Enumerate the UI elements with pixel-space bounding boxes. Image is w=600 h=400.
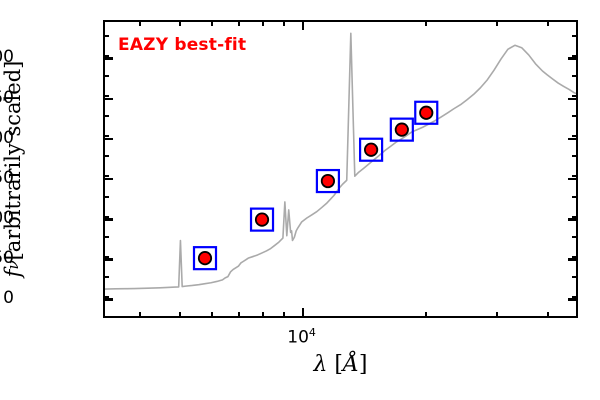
y-tick-major	[104, 57, 113, 60]
y-tick-major-right	[568, 138, 577, 141]
x-axis-title: λ [Å]	[103, 352, 578, 377]
y-tick-minor-right	[572, 35, 577, 37]
x-tick-minor	[139, 312, 141, 317]
x-tick-minor-top	[139, 21, 141, 26]
x-tick-major-top	[302, 21, 305, 30]
x-tick-minor-top	[238, 21, 240, 26]
y-tick-major	[104, 98, 113, 101]
x-axis-title-unit: [Å]	[327, 352, 367, 377]
x-tick-minor	[238, 312, 240, 317]
y-tick-minor-right	[572, 75, 577, 77]
y-tick-major	[104, 258, 113, 261]
photometry-point	[420, 107, 432, 119]
y-tick-minor-right	[572, 135, 577, 137]
y-tick-minor-right	[572, 256, 577, 258]
photometry-point	[365, 144, 377, 156]
y-tick-major-right	[568, 178, 577, 181]
y-tick-minor	[104, 196, 109, 198]
y-tick-label: 150	[0, 168, 14, 188]
x-tick-major	[302, 308, 305, 317]
y-tick-minor	[104, 155, 109, 157]
x-tick-minor	[211, 312, 213, 317]
x-axis-title-symbol: λ	[313, 352, 327, 377]
y-tick-major	[104, 218, 113, 221]
x-tick-minor-top	[547, 21, 549, 26]
plot-area: EAZY best-fit	[103, 20, 578, 318]
y-tick-major-right	[568, 218, 577, 221]
x-tick-minor-top	[425, 21, 427, 26]
y-tick-major	[104, 138, 113, 141]
y-tick-major	[104, 298, 113, 301]
y-tick-minor-right	[572, 296, 577, 298]
y-tick-major-right	[568, 258, 577, 261]
y-tick-label: 0	[3, 288, 14, 308]
y-tick-minor	[104, 135, 109, 137]
y-tick-label: 100	[0, 208, 14, 228]
y-tick-minor-right	[572, 155, 577, 157]
photometry-point	[396, 123, 408, 135]
y-tick-minor-right	[572, 196, 577, 198]
y-tick-minor-right	[572, 236, 577, 238]
x-tick-minor-top	[211, 21, 213, 26]
y-tick-minor-right	[572, 216, 577, 218]
y-tick-minor	[104, 175, 109, 177]
y-tick-minor	[104, 35, 109, 37]
y-tick-minor	[104, 296, 109, 298]
x-tick-label: 104	[287, 326, 316, 348]
y-tick-label: 200	[0, 128, 14, 148]
y-tick-minor	[104, 75, 109, 77]
x-tick-minor	[425, 312, 427, 317]
x-tick-minor	[283, 312, 285, 317]
plot-clip-region	[105, 22, 576, 316]
y-tick-minor	[104, 236, 109, 238]
y-tick-minor-right	[572, 276, 577, 278]
photometry-markers	[194, 102, 437, 269]
y-tick-minor	[104, 256, 109, 258]
photometry-point	[256, 213, 268, 225]
y-tick-label: 300	[0, 47, 14, 67]
y-axis-title-symbol: f	[1, 270, 25, 278]
x-tick-minor	[179, 312, 181, 317]
x-tick-minor	[496, 312, 498, 317]
x-tick-minor-top	[283, 21, 285, 26]
y-tick-minor-right	[572, 55, 577, 57]
y-tick-minor-right	[572, 115, 577, 117]
x-tick-minor	[262, 312, 264, 317]
y-tick-minor	[104, 95, 109, 97]
photometry-point	[199, 252, 211, 264]
y-tick-major-right	[568, 298, 577, 301]
spectrum-svg	[105, 22, 576, 316]
y-tick-minor-right	[572, 175, 577, 177]
photometry-point	[322, 175, 334, 187]
y-tick-minor	[104, 216, 109, 218]
x-tick-minor-top	[262, 21, 264, 26]
y-tick-major-right	[568, 57, 577, 60]
y-tick-minor	[104, 115, 109, 117]
x-tick-minor-top	[496, 21, 498, 26]
y-tick-minor-right	[572, 316, 577, 318]
sed-template-line	[105, 33, 576, 289]
y-tick-label: 50	[0, 248, 14, 268]
figure-eazy-sed: fν [arbitrarily scaled] λ [Å] EAZY best-…	[0, 0, 600, 400]
y-tick-minor	[104, 316, 109, 318]
y-tick-major-right	[568, 98, 577, 101]
y-tick-label: 250	[0, 88, 14, 108]
y-tick-minor	[104, 276, 109, 278]
x-tick-minor-top	[179, 21, 181, 26]
y-tick-minor-right	[572, 95, 577, 97]
x-tick-minor	[547, 312, 549, 317]
y-tick-minor	[104, 55, 109, 57]
y-tick-major	[104, 178, 113, 181]
